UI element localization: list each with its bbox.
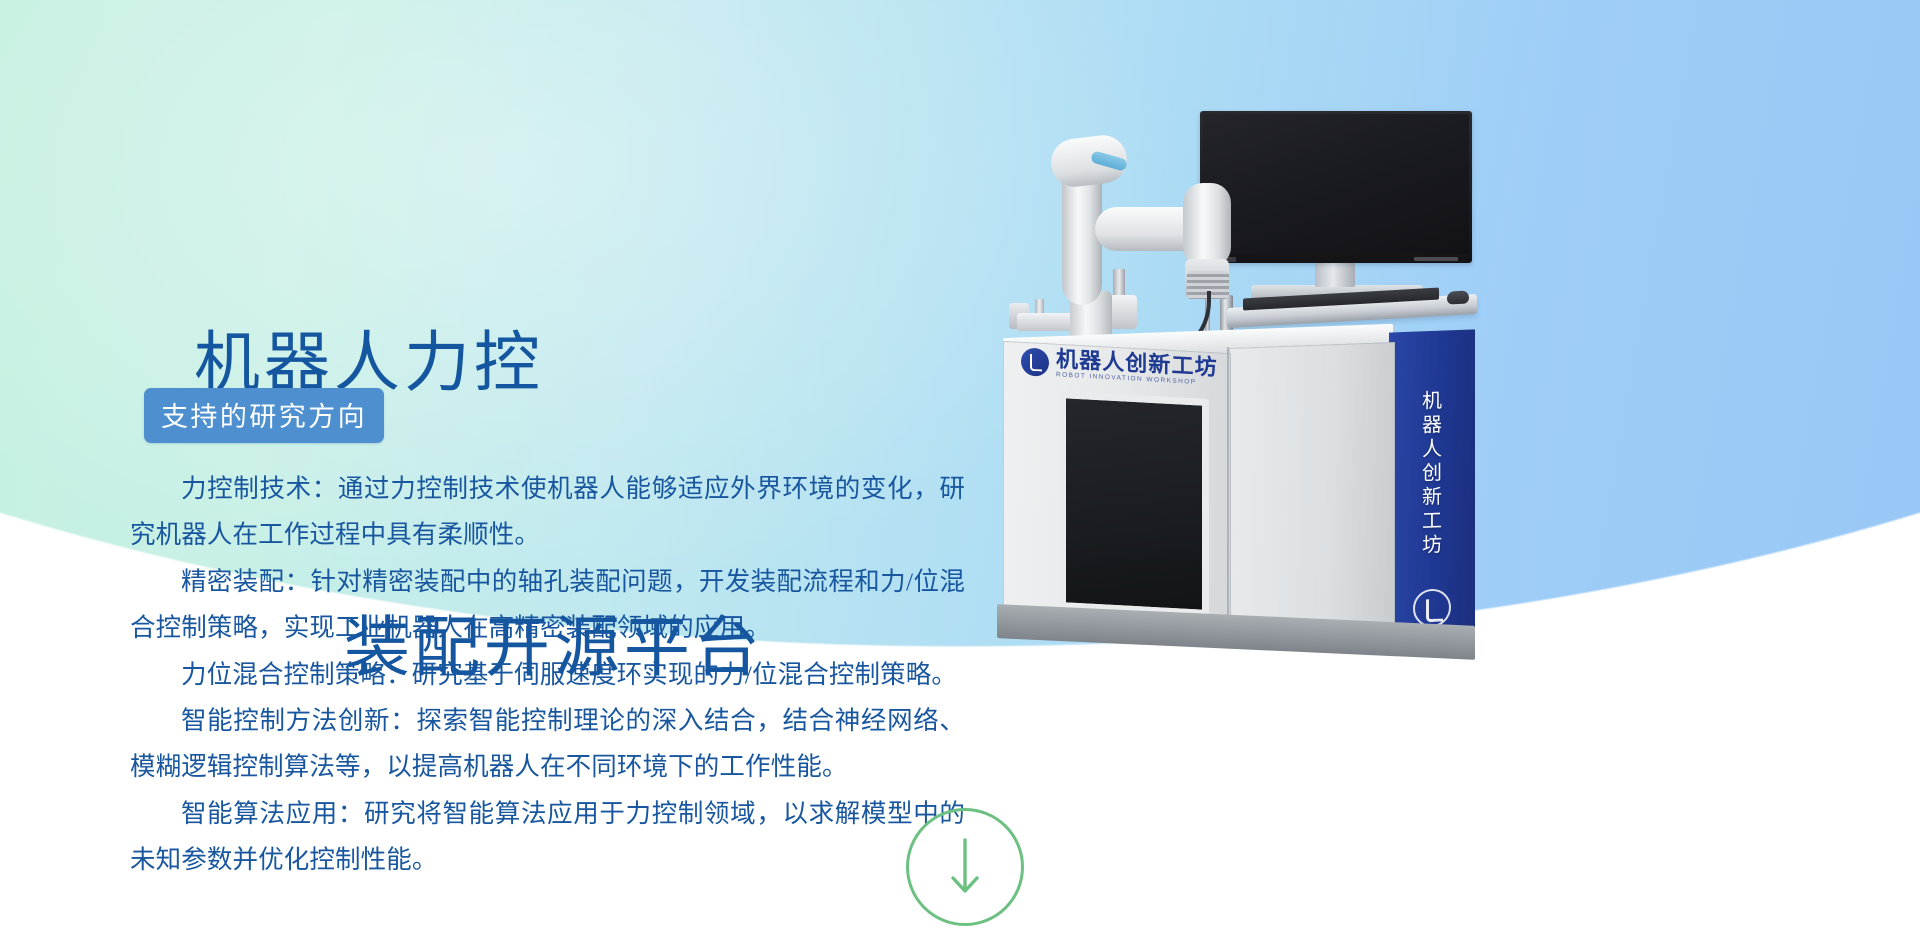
- scroll-down-button[interactable]: [906, 808, 1024, 926]
- monitor-model-mark: [1414, 257, 1458, 261]
- research-direction-item: 力位混合控制策略：研究基于伺服速度环实现的力/位混合控制策略。: [130, 652, 965, 698]
- cabinet-panel-seam: [1227, 347, 1229, 629]
- research-directions-list: 力控制技术：通过力控制技术使机器人能够适应外界环境的变化，研究机器人在工作过程中…: [130, 466, 965, 884]
- cabinet-side-brand-text: 机器人创新工坊: [1416, 389, 1445, 558]
- monitor-neck: [1315, 263, 1355, 287]
- cabinet-side-brand: 机器人创新工坊: [1393, 362, 1467, 587]
- research-direction-item: 智能控制方法创新：探索智能控制理论的深入结合，结合神经网络、模糊逻辑控制算法等，…: [130, 698, 965, 791]
- research-direction-item: 精密装配：针对精密装配中的轴孔装配问题，开发装配流程和力/位混合控制策略，实现工…: [130, 559, 965, 652]
- monitor-display: [1200, 111, 1472, 263]
- mouse: [1447, 290, 1469, 304]
- cabinet-view-window: [1059, 391, 1209, 617]
- product-photo-robot-workcell: 机器人创新工坊 机器人创新工坊 ROBOT INNOVATION WORKSHO…: [1015, 95, 1615, 655]
- research-direction-item: 力控制技术：通过力控制技术使机器人能够适应外界环境的变化，研究机器人在工作过程中…: [130, 466, 965, 559]
- workshop-logo-icon: [1021, 347, 1049, 377]
- arrow-down-icon: [948, 836, 982, 898]
- robot-arm-elbow-joint: [1183, 183, 1231, 267]
- section-badge: 支持的研究方向: [144, 388, 384, 443]
- research-direction-item: 智能算法应用：研究将智能算法应用于力控制领域，以求解模型中的未知参数并优化控制性…: [130, 791, 965, 884]
- cabinet-side-panel: [1229, 342, 1395, 634]
- monitor-screen: [1203, 114, 1469, 254]
- hero-banner: 机器人力控 装配开源平台 支持的研究方向 力控制技术：通过力控制技术使机器人能够…: [0, 0, 1920, 937]
